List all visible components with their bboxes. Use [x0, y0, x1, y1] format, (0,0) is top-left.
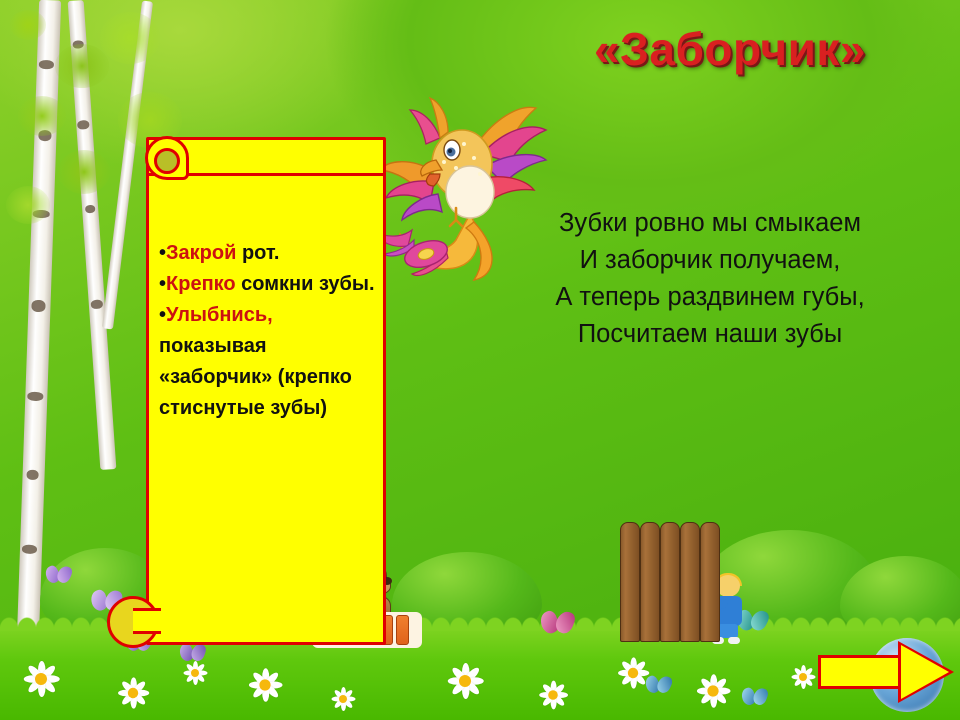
- instruction-highlight: Крепко: [166, 273, 236, 295]
- boy-legs: [718, 624, 738, 638]
- daisy-flower: [116, 676, 150, 710]
- butterfly: [541, 611, 575, 634]
- instruction-rest: показывая «заборчик» (крепко стиснутые з…: [159, 335, 352, 419]
- butterfly: [646, 676, 672, 694]
- instructions-list: •Закрой рот. •Крепко сомкни зубы. •Улыбн…: [159, 238, 377, 424]
- daisy-flower: [247, 667, 283, 703]
- poem-line: Зубки ровно мы смыкаем: [500, 205, 920, 242]
- instruction-highlight: Улыбнись,: [166, 304, 273, 326]
- wooden-fence-panel: [620, 522, 720, 642]
- butterfly: [180, 644, 206, 662]
- daisy-flower: [537, 679, 568, 710]
- presentation-slide: «Заборчик» Зубки ровно мы смыкаем И забо…: [0, 0, 960, 720]
- scroll-curl-bottom-left-icon: [107, 596, 159, 648]
- instruction-item: •Улыбнись, показывая «заборчик» (крепко …: [159, 300, 377, 424]
- bullet: •: [159, 304, 166, 326]
- instruction-rest: рот.: [236, 242, 279, 264]
- daisy-flower: [790, 664, 816, 690]
- instruction-item: •Закрой рот.: [159, 238, 377, 269]
- arrow-shaft: [818, 655, 904, 689]
- daisy-flower: [695, 673, 731, 709]
- poem-line: А теперь раздвинем губы,: [500, 279, 920, 316]
- arrow-right-icon: [901, 645, 949, 699]
- butterfly: [742, 688, 768, 706]
- bullet: •: [159, 242, 166, 264]
- butterfly: [46, 566, 72, 584]
- daisy-flower: [446, 662, 485, 701]
- daisy-flower: [330, 686, 356, 712]
- poem-text: Зубки ровно мы смыкаем И заборчик получа…: [500, 205, 920, 353]
- instruction-item: •Крепко сомкни зубы.: [159, 269, 377, 300]
- instruction-highlight: Закрой: [166, 242, 236, 264]
- daisy-flower: [22, 660, 61, 699]
- daisy-flower: [182, 660, 208, 686]
- instructions-scroll-box: •Закрой рот. •Крепко сомкни зубы. •Улыбн…: [146, 137, 386, 645]
- scroll-curl-top-left-icon: [145, 136, 189, 180]
- boy-shoe: [728, 637, 740, 644]
- sparkle: [714, 84, 764, 134]
- poem-line: И заборчик получаем,: [500, 242, 920, 279]
- instruction-rest: сомкни зубы.: [236, 273, 375, 295]
- page-title: «Заборчик»: [520, 22, 940, 76]
- next-slide-button[interactable]: [818, 641, 954, 703]
- poem-line: Посчитаем наши зубы: [500, 316, 920, 353]
- bullet: •: [159, 273, 166, 295]
